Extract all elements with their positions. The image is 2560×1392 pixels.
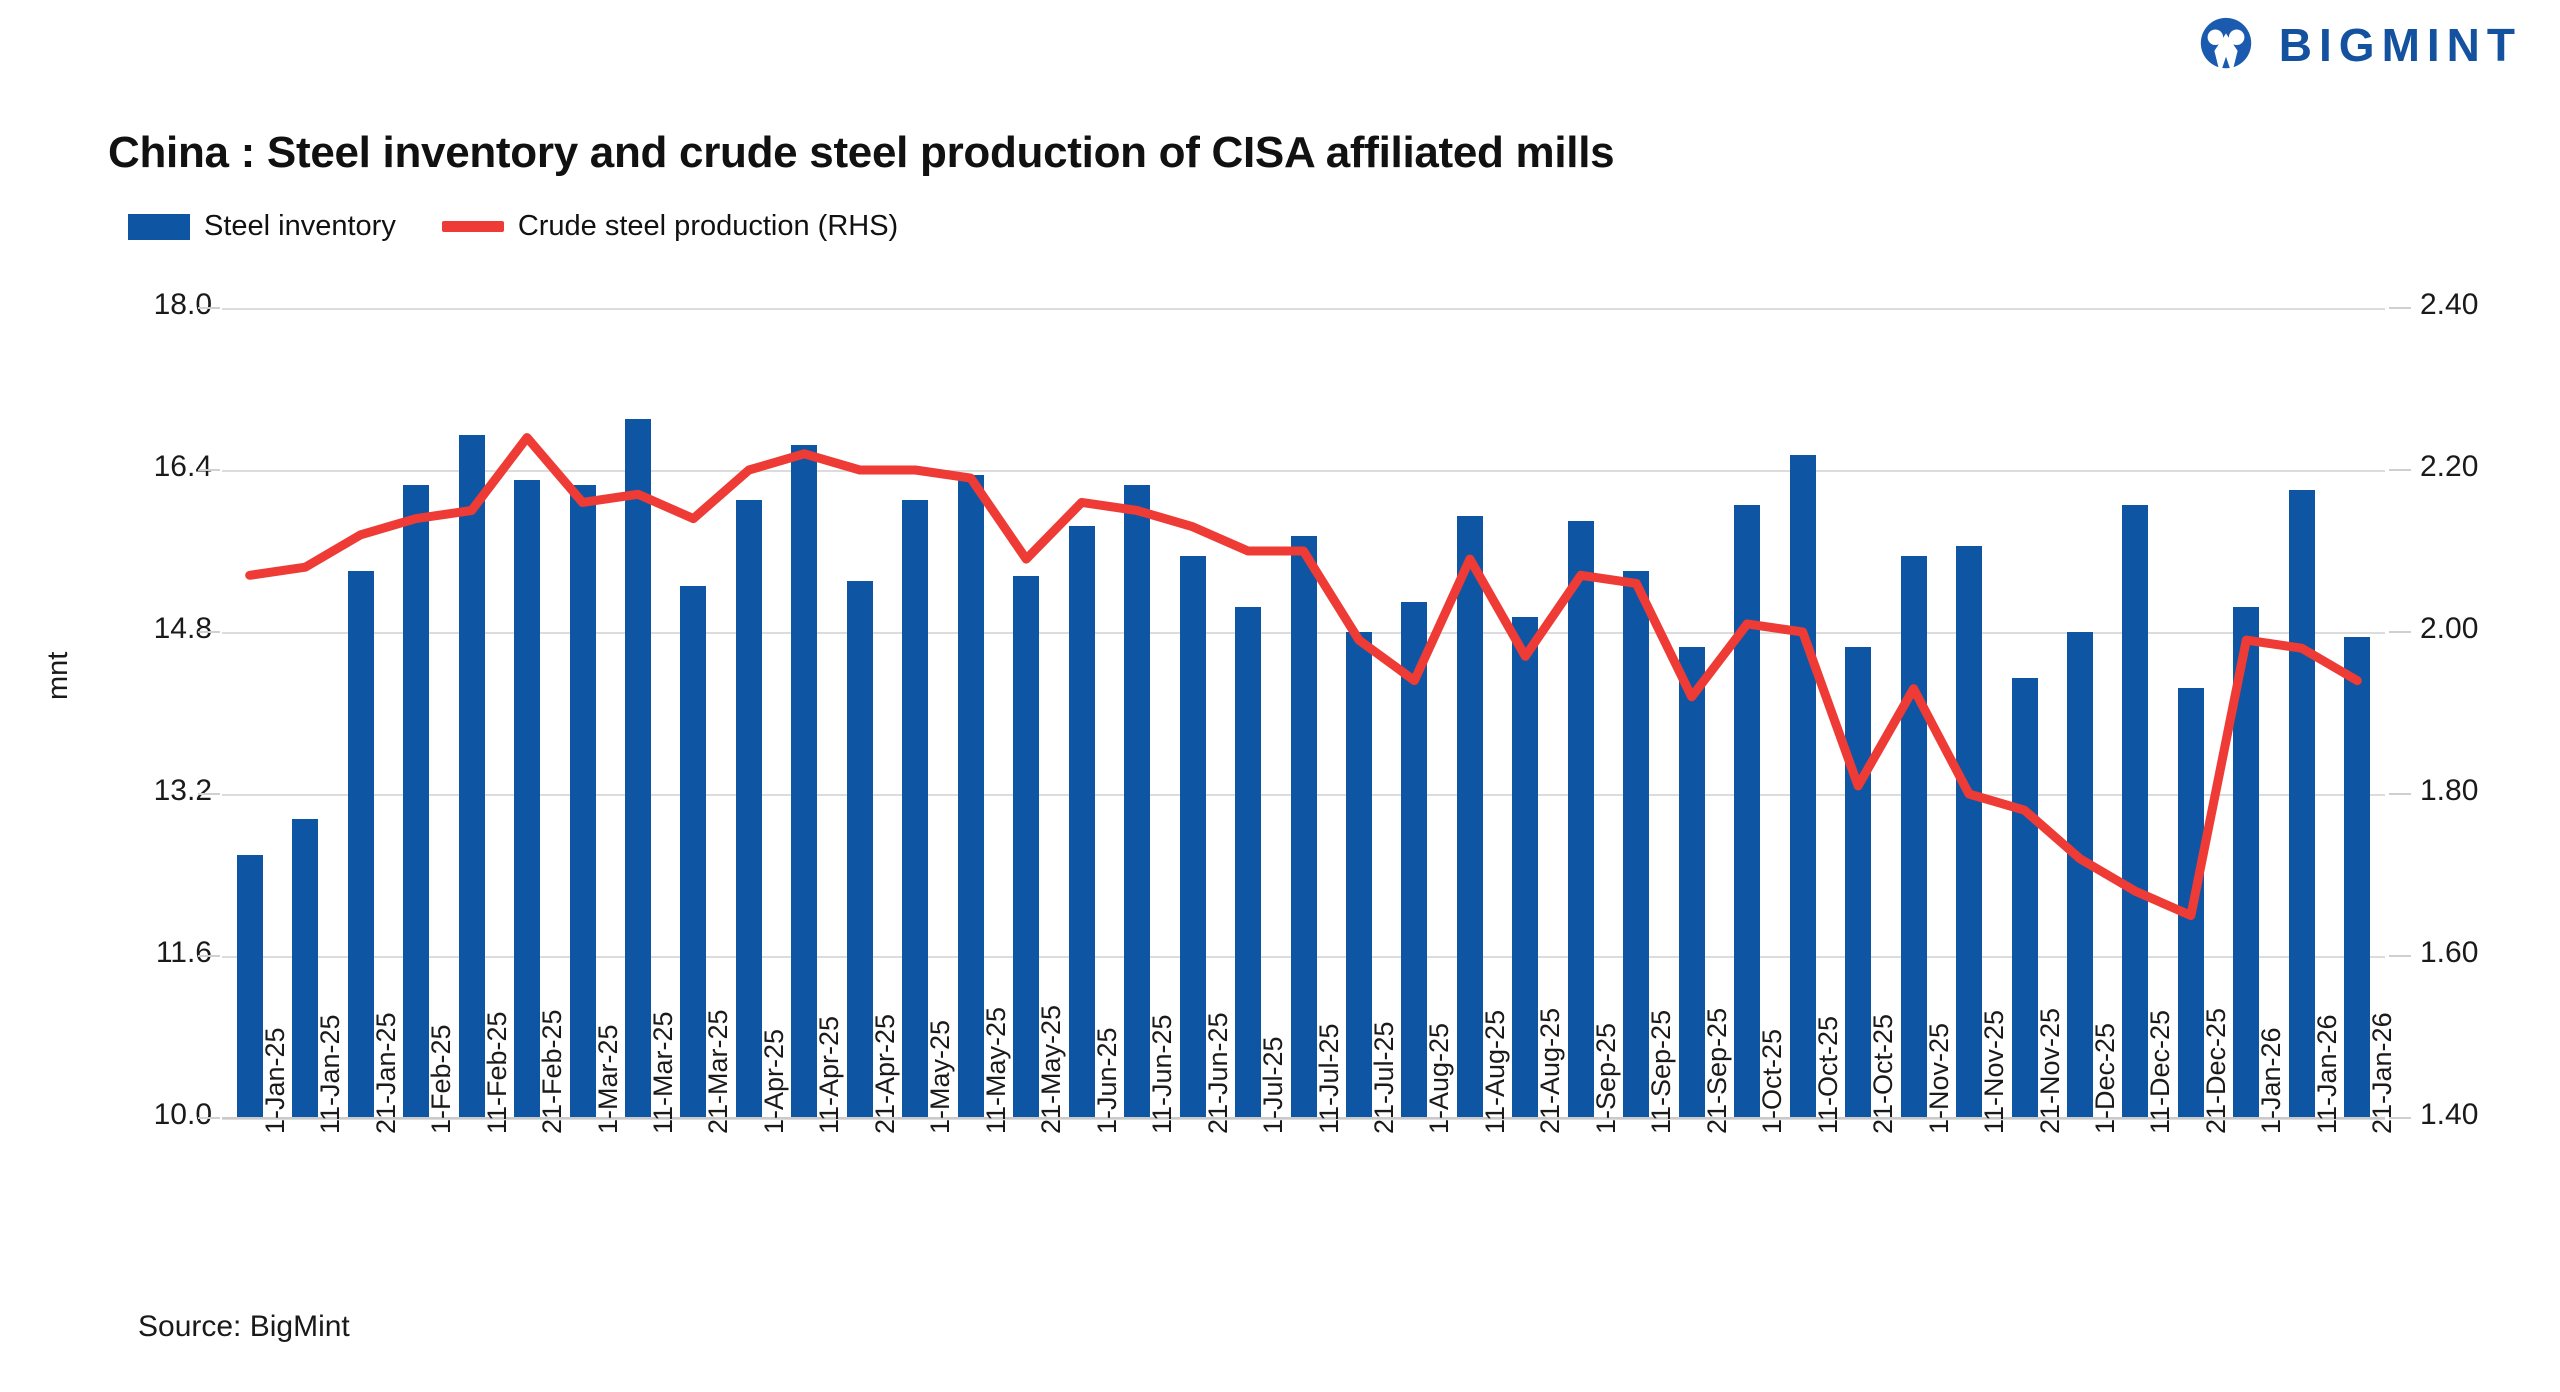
bar[interactable]: [1679, 647, 1705, 1118]
x-axis-tick-label: 1-Mar-25: [593, 1024, 624, 1134]
x-axis-tick-label: 1-Jan-26: [2256, 1027, 2287, 1134]
y-axis-tick-left: 10.0: [154, 1098, 212, 1132]
x-axis-tick-label: 21-Mar-25: [703, 1009, 734, 1134]
x-axis-tick-label: 11-Jun-25: [1147, 1014, 1178, 1134]
x-axis-tick-label: 11-Aug-25: [1480, 1010, 1511, 1134]
y-axis-tick-left: 18.0: [154, 288, 212, 322]
y-axis-tick-right: 2.40: [2420, 288, 2478, 322]
x-axis-tick-label: 11-Jan-26: [2312, 1014, 2343, 1134]
bar[interactable]: [1457, 516, 1483, 1118]
x-axis-tick-label: 1-Jan-25: [260, 1027, 291, 1134]
y-axis-tick-right: 1.80: [2420, 774, 2478, 808]
x-axis-tick-label: 21-Feb-25: [537, 1009, 568, 1134]
x-axis-tick-label: 1-Oct-25: [1757, 1029, 1788, 1134]
bar[interactable]: [847, 581, 873, 1118]
bar[interactable]: [1180, 556, 1206, 1118]
bar[interactable]: [2289, 490, 2315, 1118]
x-axis-tick-label: 21-Jul-25: [1369, 1021, 1400, 1134]
bar[interactable]: [1568, 521, 1594, 1118]
chart-plot-wrapper: mnt 10.011.613.214.816.418.0 1.401.601.8…: [0, 0, 2560, 1392]
gridline: [222, 308, 2385, 310]
y-axis-tick-left: 16.4: [154, 450, 212, 484]
x-axis-tick-label: 21-Jan-26: [2367, 1012, 2398, 1134]
x-axis-tick-label: 11-Feb-25: [482, 1011, 513, 1134]
x-axis-tick-label: 21-Jan-25: [371, 1012, 402, 1134]
x-axis-tick-label: 1-Jul-25: [1258, 1036, 1289, 1134]
y-axis-tick-right: 2.20: [2420, 450, 2478, 484]
y-axis-tick-mark-right: [2389, 955, 2411, 957]
bar[interactable]: [2178, 688, 2204, 1118]
bar[interactable]: [348, 571, 374, 1118]
bar[interactable]: [1069, 526, 1095, 1118]
y-axis-tick-mark-right: [2389, 631, 2411, 633]
x-axis-tick-label: 1-Nov-25: [1924, 1023, 1955, 1134]
y-axis-tick-left: 14.8: [154, 612, 212, 646]
x-axis-tick-label: 1-May-25: [925, 1020, 956, 1134]
y-axis-tick-mark-right: [2389, 307, 2411, 309]
x-axis-tick-label: 21-Jun-25: [1203, 1012, 1234, 1134]
y-axis-tick-right: 2.00: [2420, 612, 2478, 646]
y-axis-tick-mark-right: [2389, 469, 2411, 471]
x-axis-tick-label: 11-Sep-25: [1646, 1010, 1677, 1134]
x-axis-tick-label: 11-Oct-25: [1813, 1016, 1844, 1134]
bar[interactable]: [1790, 455, 1816, 1118]
x-axis-tick-label: 11-Apr-25: [814, 1016, 845, 1134]
y-axis-tick-left: 11.6: [156, 936, 212, 970]
bar[interactable]: [1734, 505, 1760, 1118]
y-axis-tick-mark-left: [198, 307, 220, 309]
bar[interactable]: [736, 500, 762, 1118]
x-axis-tick-label: 11-Dec-25: [2145, 1010, 2176, 1134]
y-axis-label-left: mnt: [42, 652, 75, 700]
bar[interactable]: [1901, 556, 1927, 1118]
y-axis-tick-mark-left: [198, 793, 220, 795]
x-axis-tick-label: 11-Jul-25: [1314, 1023, 1345, 1134]
y-axis-tick-mark-left: [198, 955, 220, 957]
y-axis-tick-mark-right: [2389, 793, 2411, 795]
x-axis-tick-label: 21-Oct-25: [1868, 1014, 1899, 1134]
y-axis-tick-right: 1.40: [2420, 1098, 2478, 1132]
y-axis-tick-right: 1.60: [2420, 936, 2478, 970]
bar[interactable]: [570, 485, 596, 1118]
x-axis-tick-label: 1-Apr-25: [759, 1029, 790, 1134]
bar[interactable]: [403, 485, 429, 1118]
x-axis-tick-label: 11-Nov-25: [1979, 1010, 2010, 1134]
x-axis-tick-label: 1-Sep-25: [1591, 1023, 1622, 1134]
x-axis-tick-label: 1-Jun-25: [1092, 1027, 1123, 1134]
chart-page: BIGMINT China : Steel inventory and crud…: [0, 0, 2560, 1392]
bar[interactable]: [459, 435, 485, 1118]
x-axis-tick-label: 1-Dec-25: [2090, 1023, 2121, 1134]
x-axis-tick-label: 11-May-25: [981, 1007, 1012, 1134]
y-axis-tick-mark-left: [198, 469, 220, 471]
x-axis-tick-label: 11-Jan-25: [315, 1014, 346, 1134]
y-axis-tick-mark-left: [198, 631, 220, 633]
x-axis-tick-label: 21-May-25: [1036, 1005, 1067, 1134]
x-axis-tick-label: 21-Dec-25: [2201, 1008, 2232, 1134]
bar[interactable]: [2012, 678, 2038, 1118]
bar[interactable]: [237, 855, 263, 1118]
y-axis-tick-left: 13.2: [154, 774, 212, 808]
x-axis-tick-label: 21-Aug-25: [1535, 1008, 1566, 1134]
x-axis-tick-label: 21-Sep-25: [1702, 1008, 1733, 1134]
x-axis-tick-label: 1-Aug-25: [1424, 1023, 1455, 1134]
plot-area: [222, 308, 2385, 1118]
y-axis-tick-mark-left: [198, 1117, 220, 1119]
x-axis-tick-label: 21-Apr-25: [870, 1014, 901, 1134]
x-axis-tick-label: 11-Mar-25: [648, 1011, 679, 1134]
source-note: Source: BigMint: [138, 1310, 350, 1344]
x-axis-tick-label: 1-Feb-25: [426, 1024, 457, 1134]
bar[interactable]: [1291, 536, 1317, 1118]
gridline: [222, 470, 2385, 472]
bar[interactable]: [958, 475, 984, 1118]
x-axis-tick-label: 21-Nov-25: [2035, 1008, 2066, 1134]
